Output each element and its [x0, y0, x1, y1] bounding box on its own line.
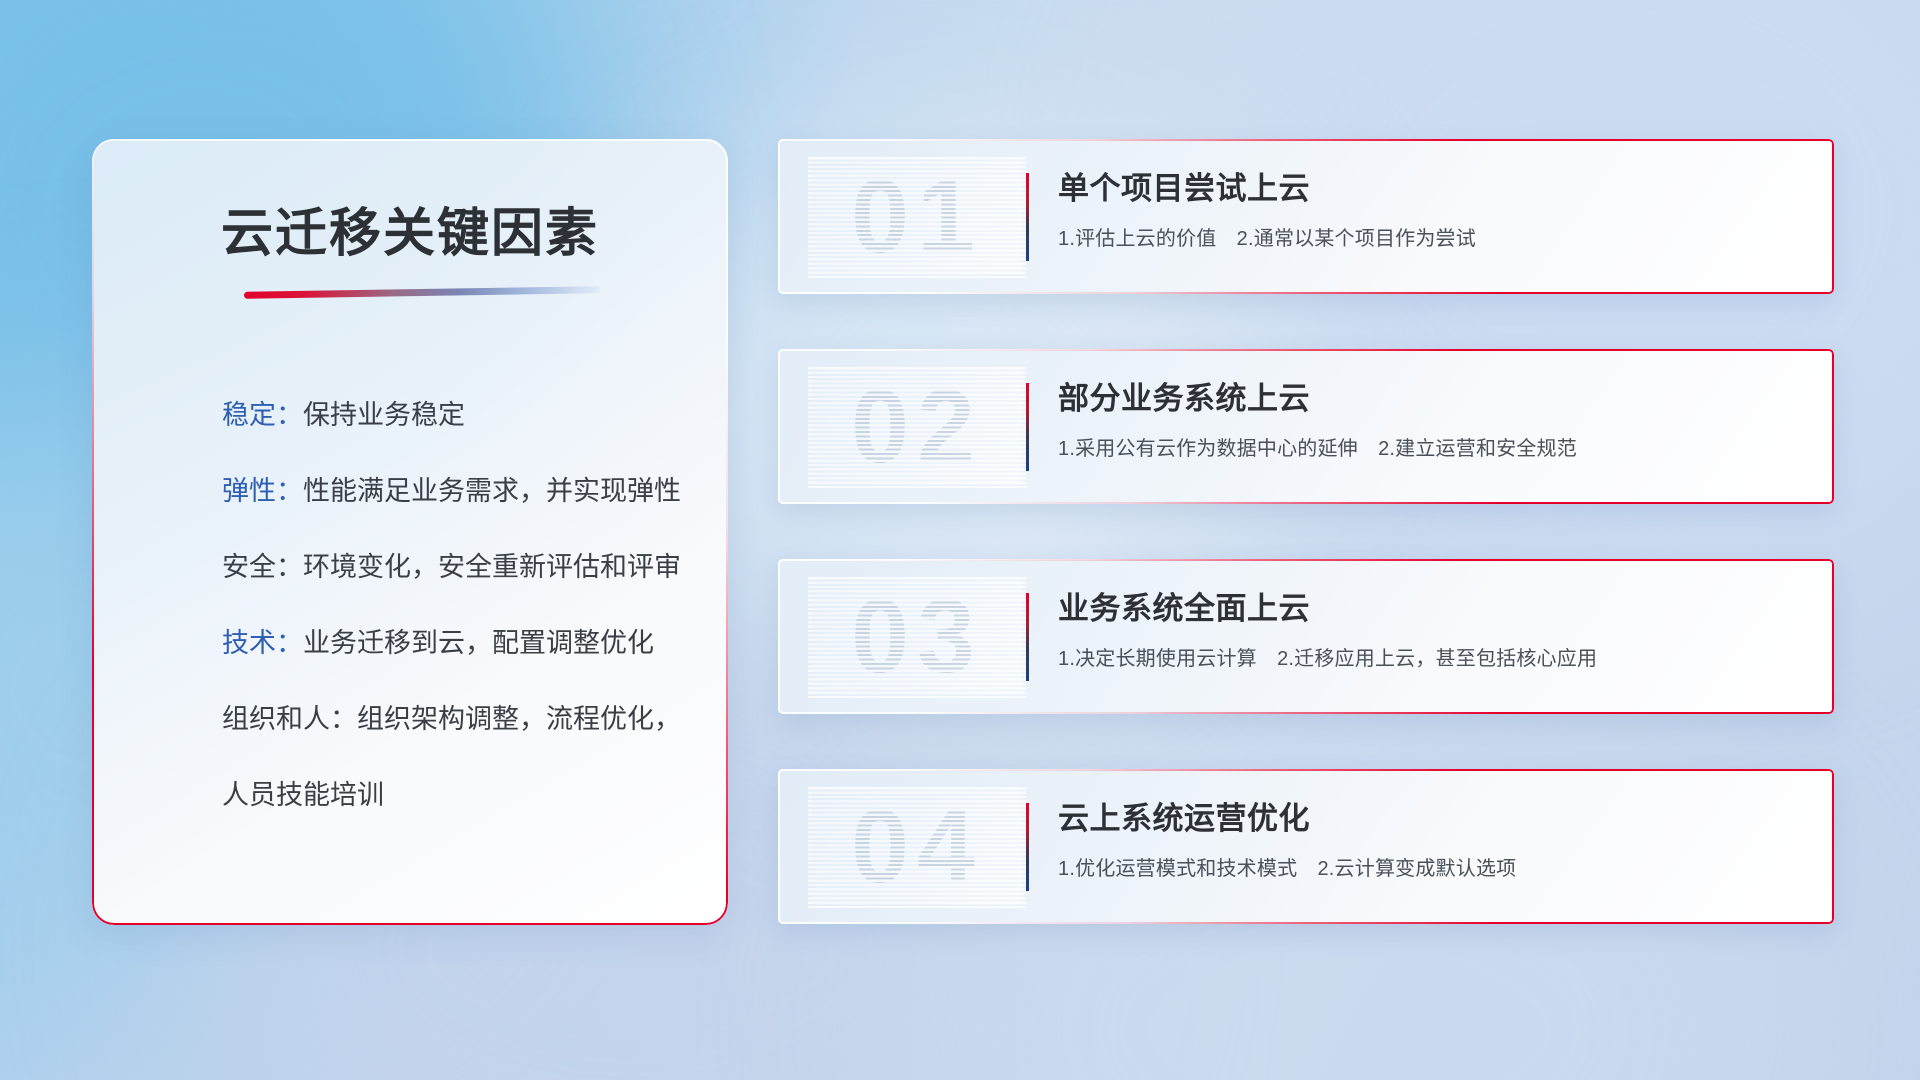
step-text-block: 部分业务系统上云 1.采用公有云作为数据中心的延伸 2.建立运营和安全规范	[1058, 377, 1810, 463]
step-text-block: 单个项目尝试上云 1.评估上云的价值 2.通常以某个项目作为尝试	[1058, 167, 1810, 253]
factor-value-stability: 保持业务稳定	[303, 400, 465, 430]
step-subtitle: 1.决定长期使用云计算 2.迁移应用上云，甚至包括核心应用	[1058, 645, 1810, 673]
step-number-03: 03	[812, 579, 1022, 695]
step-number-tint	[812, 579, 1022, 695]
step-number-tint	[812, 159, 1022, 275]
factor-value-security: 环境变化，安全重新评估和评审	[303, 552, 681, 582]
step-divider-bar	[1026, 173, 1029, 261]
factor-item-security: 安全：环境变化，安全重新评估和评审	[222, 529, 684, 605]
step-card-03[interactable]: 03 业务系统全面上云 1.决定长期使用云计算 2.迁移应用上云，甚至包括核心应…	[778, 559, 1834, 714]
factor-value-organization-continued: 人员技能培训	[222, 757, 684, 833]
factor-label-security: 安全：	[222, 552, 303, 582]
step-number-04: 04	[812, 789, 1022, 905]
factor-item-elasticity: 弹性：性能满足业务需求，并实现弹性	[222, 453, 684, 529]
step-number-tint	[812, 369, 1022, 485]
step-number-glyph: 01	[812, 159, 1022, 275]
step-number-scanlines	[808, 365, 1026, 489]
step-divider-bar	[1026, 593, 1029, 681]
step-title: 业务系统全面上云	[1058, 587, 1810, 631]
step-subtitle: 1.评估上云的价值 2.通常以某个项目作为尝试	[1058, 225, 1810, 253]
step-title: 云上系统运营优化	[1058, 797, 1810, 841]
step-divider-bar	[1026, 803, 1029, 891]
step-card-04[interactable]: 04 云上系统运营优化 1.优化运营模式和技术模式 2.云计算变成默认选项	[778, 769, 1834, 924]
slide-canvas: 云迁移关键因素 稳定：保持业务稳定 弹性：性能满足业务需求，并实现弹性 安全：环…	[0, 0, 1920, 1080]
step-number-glyph: 02	[812, 369, 1022, 485]
factor-value-organization: 组织架构调整，流程优化，	[357, 704, 681, 734]
step-number-02: 02	[812, 369, 1022, 485]
step-card-01[interactable]: 01 单个项目尝试上云 1.评估上云的价值 2.通常以某个项目作为尝试	[778, 139, 1834, 294]
step-number-glyph: 04	[812, 789, 1022, 905]
factor-label-technology: 技术：	[222, 628, 303, 658]
factor-label-stability: 稳定：	[222, 400, 303, 430]
step-title: 部分业务系统上云	[1058, 377, 1810, 421]
factor-item-technology: 技术：业务迁移到云，配置调整优化	[222, 605, 684, 681]
factor-list: 稳定：保持业务稳定 弹性：性能满足业务需求，并实现弹性 安全：环境变化，安全重新…	[222, 377, 684, 833]
step-number-01: 01	[812, 159, 1022, 275]
migration-steps-list: 01 单个项目尝试上云 1.评估上云的价值 2.通常以某个项目作为尝试 02 部…	[778, 139, 1834, 979]
title-underline-rule	[244, 286, 600, 299]
factor-label-organization: 组织和人：	[222, 704, 357, 734]
step-subtitle: 1.采用公有云作为数据中心的延伸 2.建立运营和安全规范	[1058, 435, 1810, 463]
page-title: 云迁移关键因素	[92, 191, 728, 266]
step-title: 单个项目尝试上云	[1058, 167, 1810, 211]
step-number-scanlines	[808, 155, 1026, 279]
factor-item-organization: 组织和人：组织架构调整，流程优化，	[222, 681, 684, 757]
step-number-tint	[812, 789, 1022, 905]
step-subtitle: 1.优化运营模式和技术模式 2.云计算变成默认选项	[1058, 855, 1810, 883]
factor-value-elasticity: 性能满足业务需求，并实现弹性	[303, 476, 681, 506]
factor-value-technology: 业务迁移到云，配置调整优化	[303, 628, 654, 658]
step-number-glyph: 03	[812, 579, 1022, 695]
step-text-block: 业务系统全面上云 1.决定长期使用云计算 2.迁移应用上云，甚至包括核心应用	[1058, 587, 1810, 673]
step-divider-bar	[1026, 383, 1029, 471]
key-factors-card: 云迁移关键因素 稳定：保持业务稳定 弹性：性能满足业务需求，并实现弹性 安全：环…	[92, 139, 728, 925]
factor-item-stability: 稳定：保持业务稳定	[222, 377, 684, 453]
step-number-scanlines	[808, 785, 1026, 909]
step-text-block: 云上系统运营优化 1.优化运营模式和技术模式 2.云计算变成默认选项	[1058, 797, 1810, 883]
step-number-scanlines	[808, 575, 1026, 699]
factor-label-elasticity: 弹性：	[222, 476, 303, 506]
step-card-02[interactable]: 02 部分业务系统上云 1.采用公有云作为数据中心的延伸 2.建立运营和安全规范	[778, 349, 1834, 504]
